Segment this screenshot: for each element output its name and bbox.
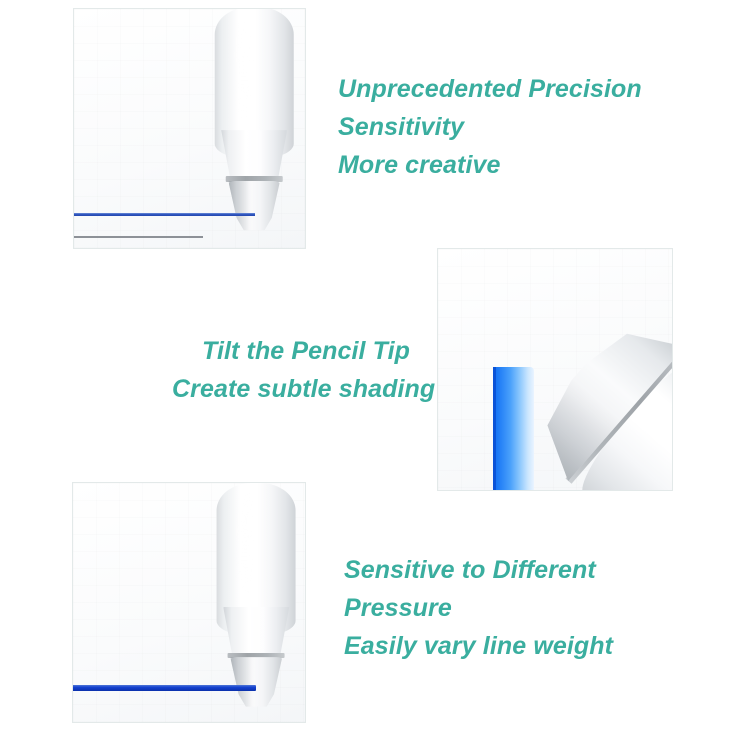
thick-blue-line-stroke — [73, 685, 256, 691]
stylus-pencil-vertical-icon — [215, 8, 294, 231]
pencil-taper — [221, 130, 287, 179]
caption-precision: Unprecedented Precision Sensitivity More… — [338, 70, 642, 184]
caption-pressure-line-1: Sensitive to Different — [344, 551, 613, 589]
pencil-precision-panel — [73, 8, 306, 249]
caption-tilt-line-2: Create subtle shading — [172, 370, 410, 408]
pencil-tip-shadow — [228, 181, 280, 233]
caption-pressure-line-3: Easily vary line weight — [344, 627, 613, 665]
thin-blue-line-stroke — [74, 213, 255, 216]
thin-gray-line-stroke — [74, 236, 203, 238]
caption-tilt: Tilt the Pencil Tip Create subtle shadin… — [172, 332, 410, 408]
stylus-pencil-vertical-icon — [217, 483, 296, 708]
caption-precision-line-1: Unprecedented Precision — [338, 70, 642, 108]
caption-pressure: Sensitive to Different Pressure Easily v… — [344, 551, 613, 665]
pencil-pressure-panel — [72, 482, 306, 723]
caption-tilt-line-1: Tilt the Pencil Tip — [172, 332, 410, 370]
caption-pressure-line-2: Pressure — [344, 589, 613, 627]
caption-precision-line-2: Sensitivity — [338, 108, 642, 146]
pencil-tilt-panel — [437, 248, 673, 491]
caption-precision-line-3: More creative — [338, 146, 642, 184]
pencil-taper — [223, 607, 289, 656]
pencil-tip-shadow — [230, 657, 282, 709]
